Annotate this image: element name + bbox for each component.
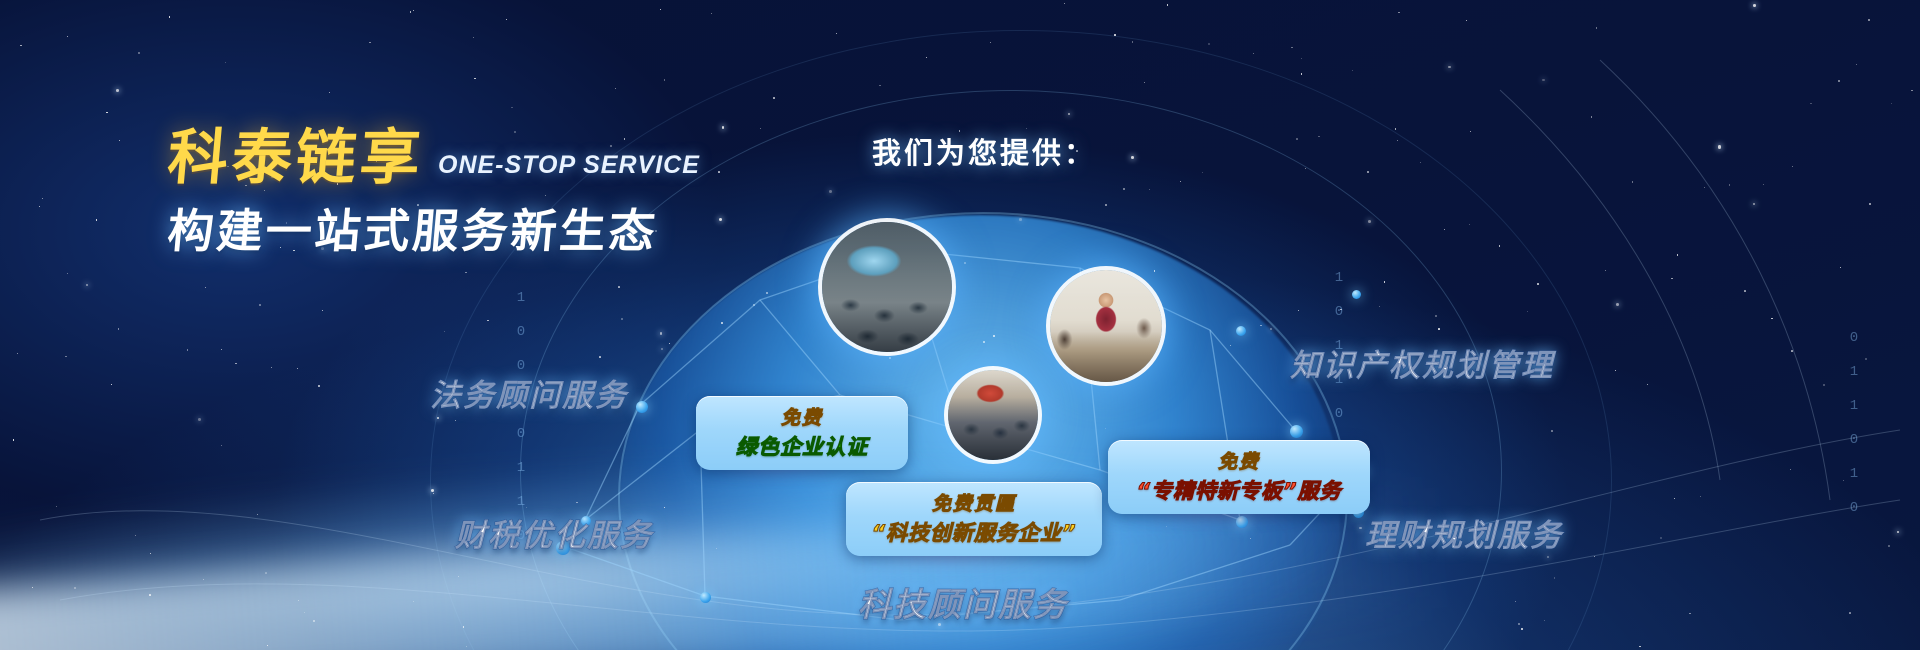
service-label-legal: 法务顾问服务 (430, 370, 628, 415)
headline-subtitle-cn: 构建一站式服务新生态 (165, 195, 703, 261)
pill-line1: 免费 (1130, 447, 1348, 474)
net-node (1236, 516, 1248, 528)
pill-green-cert[interactable]: 免费 绿色企业认证 (696, 396, 908, 470)
service-label-ip: 知识产权规划管理 (1290, 340, 1554, 385)
service-label-tax: 财税优化服务 (455, 510, 653, 555)
service-label-wealth: 理财规划服务 (1365, 510, 1563, 555)
headline-title-cn: 科泰链享 (165, 128, 426, 189)
binary-column: 1 0 0 1 0 1 1 0 (512, 290, 529, 545)
pill-line1: 免费贯匾 (868, 489, 1080, 516)
pill-line2: 绿色企业认证 (718, 431, 886, 461)
pill-specialized-new[interactable]: 免费 “专精特新专板”服务 (1108, 440, 1370, 514)
net-node (700, 592, 711, 603)
headline-block: 科泰链享 ONE-STOP SERVICE 构建一站式服务新生态 (168, 128, 700, 261)
pill-line2: “专精特新专板”服务 (1130, 475, 1348, 505)
pill-tech-innovation[interactable]: 免费贯匾 “科技创新服务企业” (846, 482, 1102, 556)
net-node (1236, 326, 1246, 336)
photo-seminar-hall (822, 222, 952, 352)
photo-meeting-room (948, 370, 1038, 460)
pill-line2: “科技创新服务企业” (868, 517, 1080, 547)
net-node (636, 401, 648, 413)
net-node (1352, 290, 1361, 299)
promo-banner: 1 0 0 1 0 1 1 0 1 0 1 1 0 0 1 0 1 1 0 1 … (0, 0, 1920, 650)
net-node (1290, 425, 1303, 438)
binary-column: 0 1 1 0 1 0 (1845, 330, 1862, 517)
photo-office-consult (1050, 270, 1162, 382)
provide-label: 我们为您提供： (872, 130, 1096, 172)
service-label-tech: 科技顾问服务 (858, 578, 1068, 626)
pill-line1: 免费 (718, 403, 886, 430)
headline-title-en: ONE-STOP SERVICE (438, 151, 700, 189)
